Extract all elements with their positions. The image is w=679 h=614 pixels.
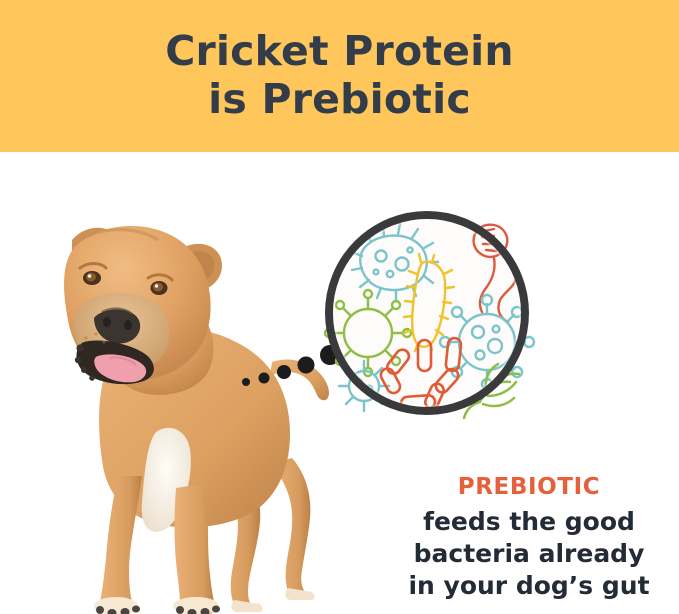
caption-line-2: bacteria already <box>379 538 679 570</box>
caption-line-1: feeds the good <box>379 506 679 538</box>
header-banner: Cricket Protein is Prebiotic <box>0 0 679 152</box>
caption-line-3: in your dog’s gut <box>379 570 679 602</box>
page-title-line-1: Cricket Protein <box>165 28 514 76</box>
page-title-line-2: is Prebiotic <box>208 76 471 124</box>
caption-highlight: PREBIOTIC <box>379 473 679 502</box>
trail-dot-4 <box>298 357 315 374</box>
magnifier-callout <box>238 200 544 426</box>
trail-dot-1 <box>242 378 250 386</box>
caption-block: PREBIOTIC feeds the good bacteria alread… <box>379 473 679 602</box>
trail-dot-3 <box>277 365 291 379</box>
trail-dot-2 <box>259 373 270 384</box>
infographic-page: Cricket Protein is Prebiotic <box>0 0 679 614</box>
magnifier-illustration <box>238 200 544 426</box>
